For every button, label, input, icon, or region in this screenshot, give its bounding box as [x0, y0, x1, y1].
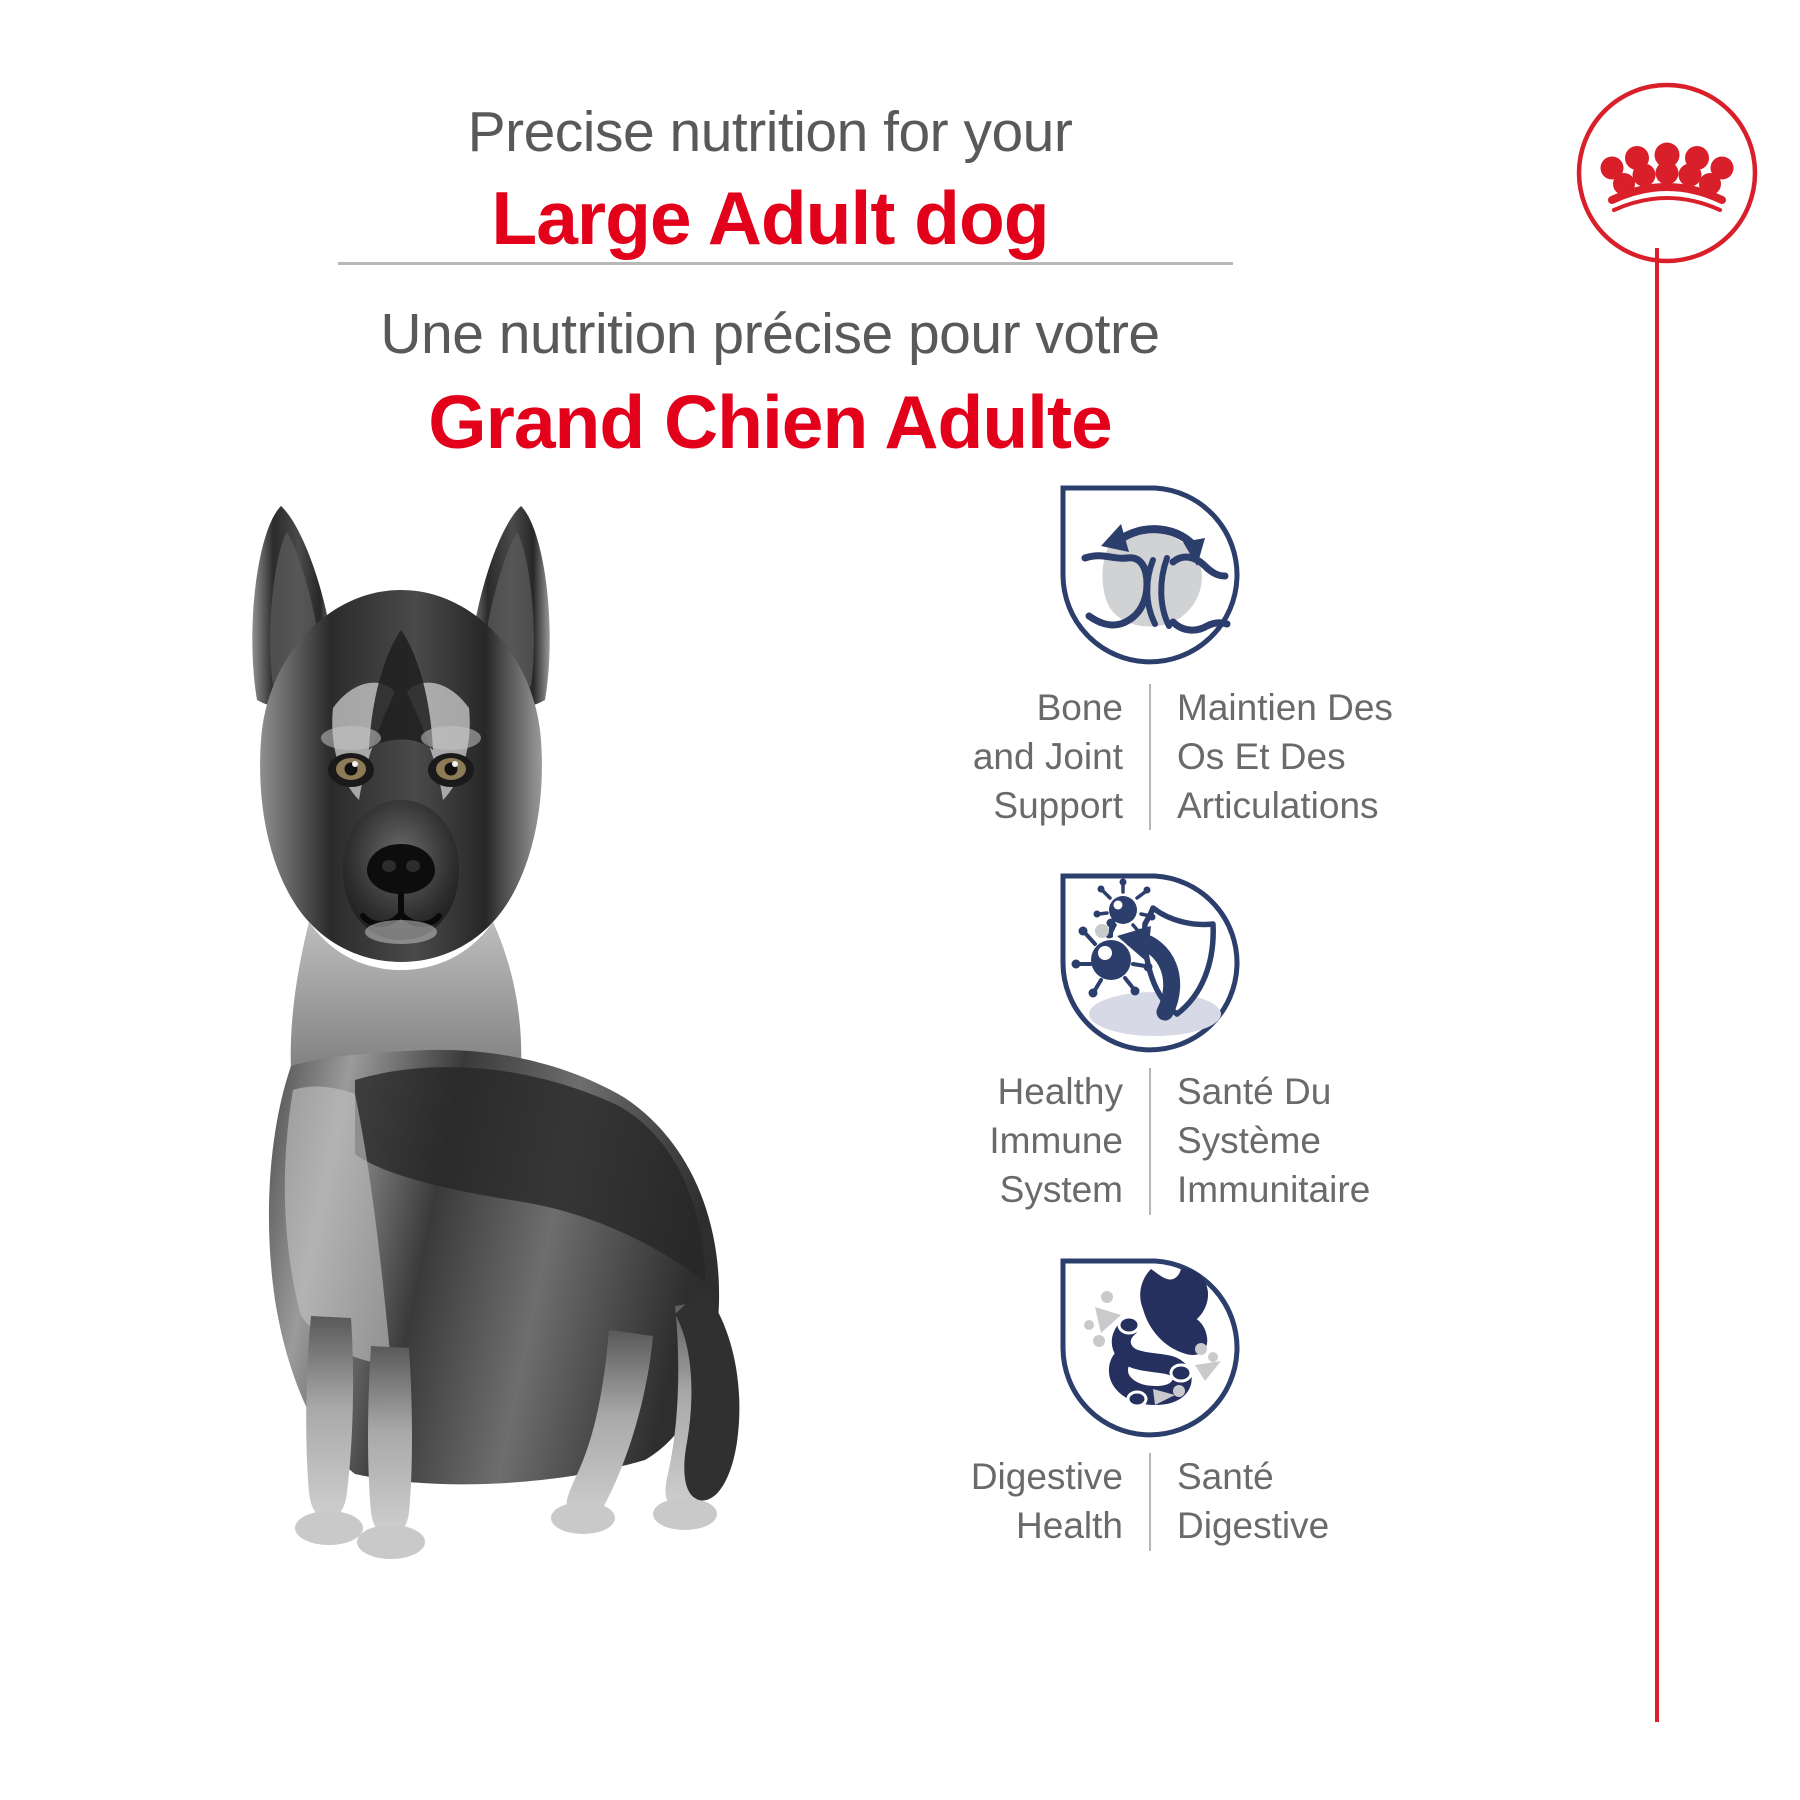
digestive-health-icon — [1055, 1253, 1245, 1443]
benefit-labels: Healthy Immune System Santé Du Système I… — [830, 1068, 1470, 1214]
bone-and-joint-icon — [1055, 480, 1245, 670]
header: Precise nutrition for your Large Adult d… — [0, 0, 1540, 460]
logo-stem-line — [1655, 248, 1659, 1722]
benefits-list: Bone and Joint Support Maintien Des Os E… — [830, 480, 1470, 1571]
french-title: Grand Chien Adulte — [0, 385, 1540, 460]
benefit-item-bone-and-joint: Bone and Joint Support Maintien Des Os E… — [830, 480, 1470, 830]
benefit-label-en: Digestive Health — [833, 1453, 1149, 1551]
english-title-block: Precise nutrition for your Large Adult d… — [0, 104, 1540, 256]
healthy-immune-system-icon — [1055, 868, 1245, 1058]
benefit-label-en: Bone and Joint Support — [833, 684, 1149, 830]
benefit-item-digestive-health: Digestive Health Santé Digestive — [830, 1253, 1470, 1551]
english-title: Large Adult dog — [0, 181, 1540, 256]
french-title-block: Une nutrition précise pour votre Grand C… — [0, 306, 1540, 460]
benefit-label-fr: Santé Digestive — [1151, 1453, 1467, 1551]
title-divider — [338, 262, 1233, 265]
benefit-label-fr: Santé Du Système Immunitaire — [1151, 1068, 1467, 1214]
benefit-label-fr: Maintien Des Os Et Des Articulations — [1151, 684, 1467, 830]
benefit-label-en: Healthy Immune System — [833, 1068, 1149, 1214]
benefit-labels: Bone and Joint Support Maintien Des Os E… — [830, 684, 1470, 830]
royal-canin-crown-icon — [1572, 78, 1762, 268]
english-subtitle: Precise nutrition for your — [0, 104, 1540, 161]
dog-photo — [205, 470, 765, 1560]
french-subtitle: Une nutrition précise pour votre — [0, 306, 1540, 363]
benefit-item-healthy-immune-system: Healthy Immune System Santé Du Système I… — [830, 868, 1470, 1214]
benefit-labels: Digestive Health Santé Digestive — [830, 1453, 1470, 1551]
